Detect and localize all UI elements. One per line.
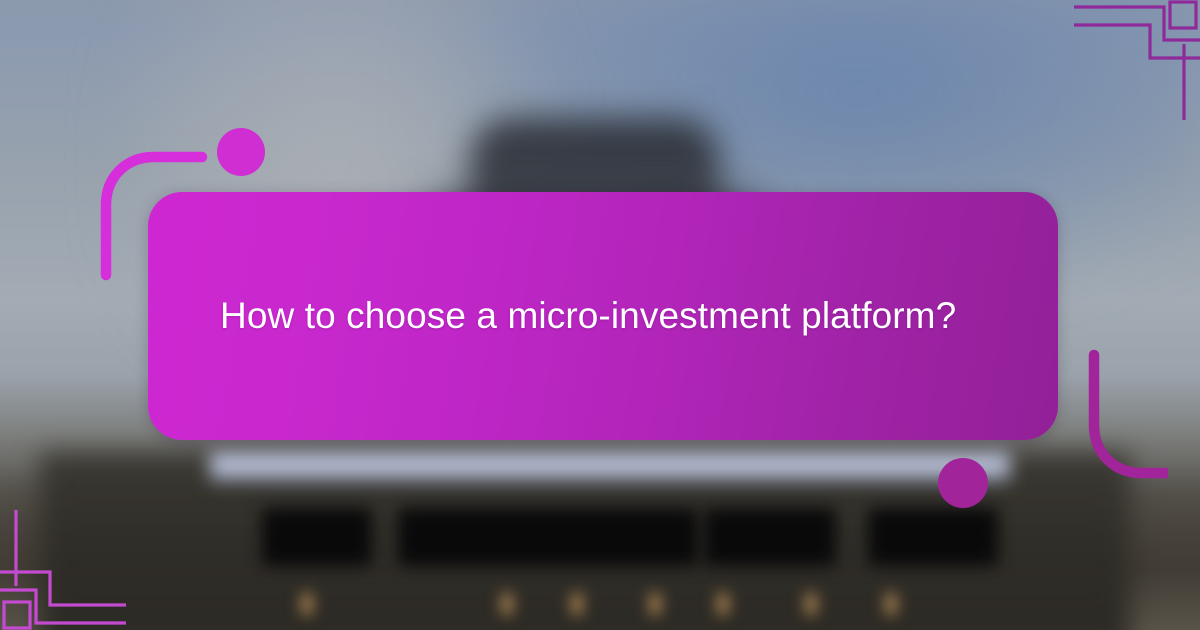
background-window [868,508,998,566]
background-lamp-glow [496,588,518,620]
background-lamp-glow [880,588,902,620]
accent-dot-bottom [938,458,988,508]
background-window [398,508,698,566]
background-lamp-glow [566,588,588,620]
background-lamp-glow [712,588,734,620]
background-lamp-glow [644,588,666,620]
page-title: How to choose a micro-investment platfor… [148,293,1028,339]
background-window [704,508,836,566]
background-window [262,508,372,566]
headline-card: How to choose a micro-investment platfor… [148,192,1058,440]
accent-dot-top [217,128,265,176]
background-lamp-glow [800,588,822,620]
background-lamp-glow [296,588,318,620]
background-glazing-band [210,452,1010,482]
corner-bracket-bottom-right-icon [1056,348,1168,496]
hero-banner: How to choose a micro-investment platfor… [0,0,1200,630]
